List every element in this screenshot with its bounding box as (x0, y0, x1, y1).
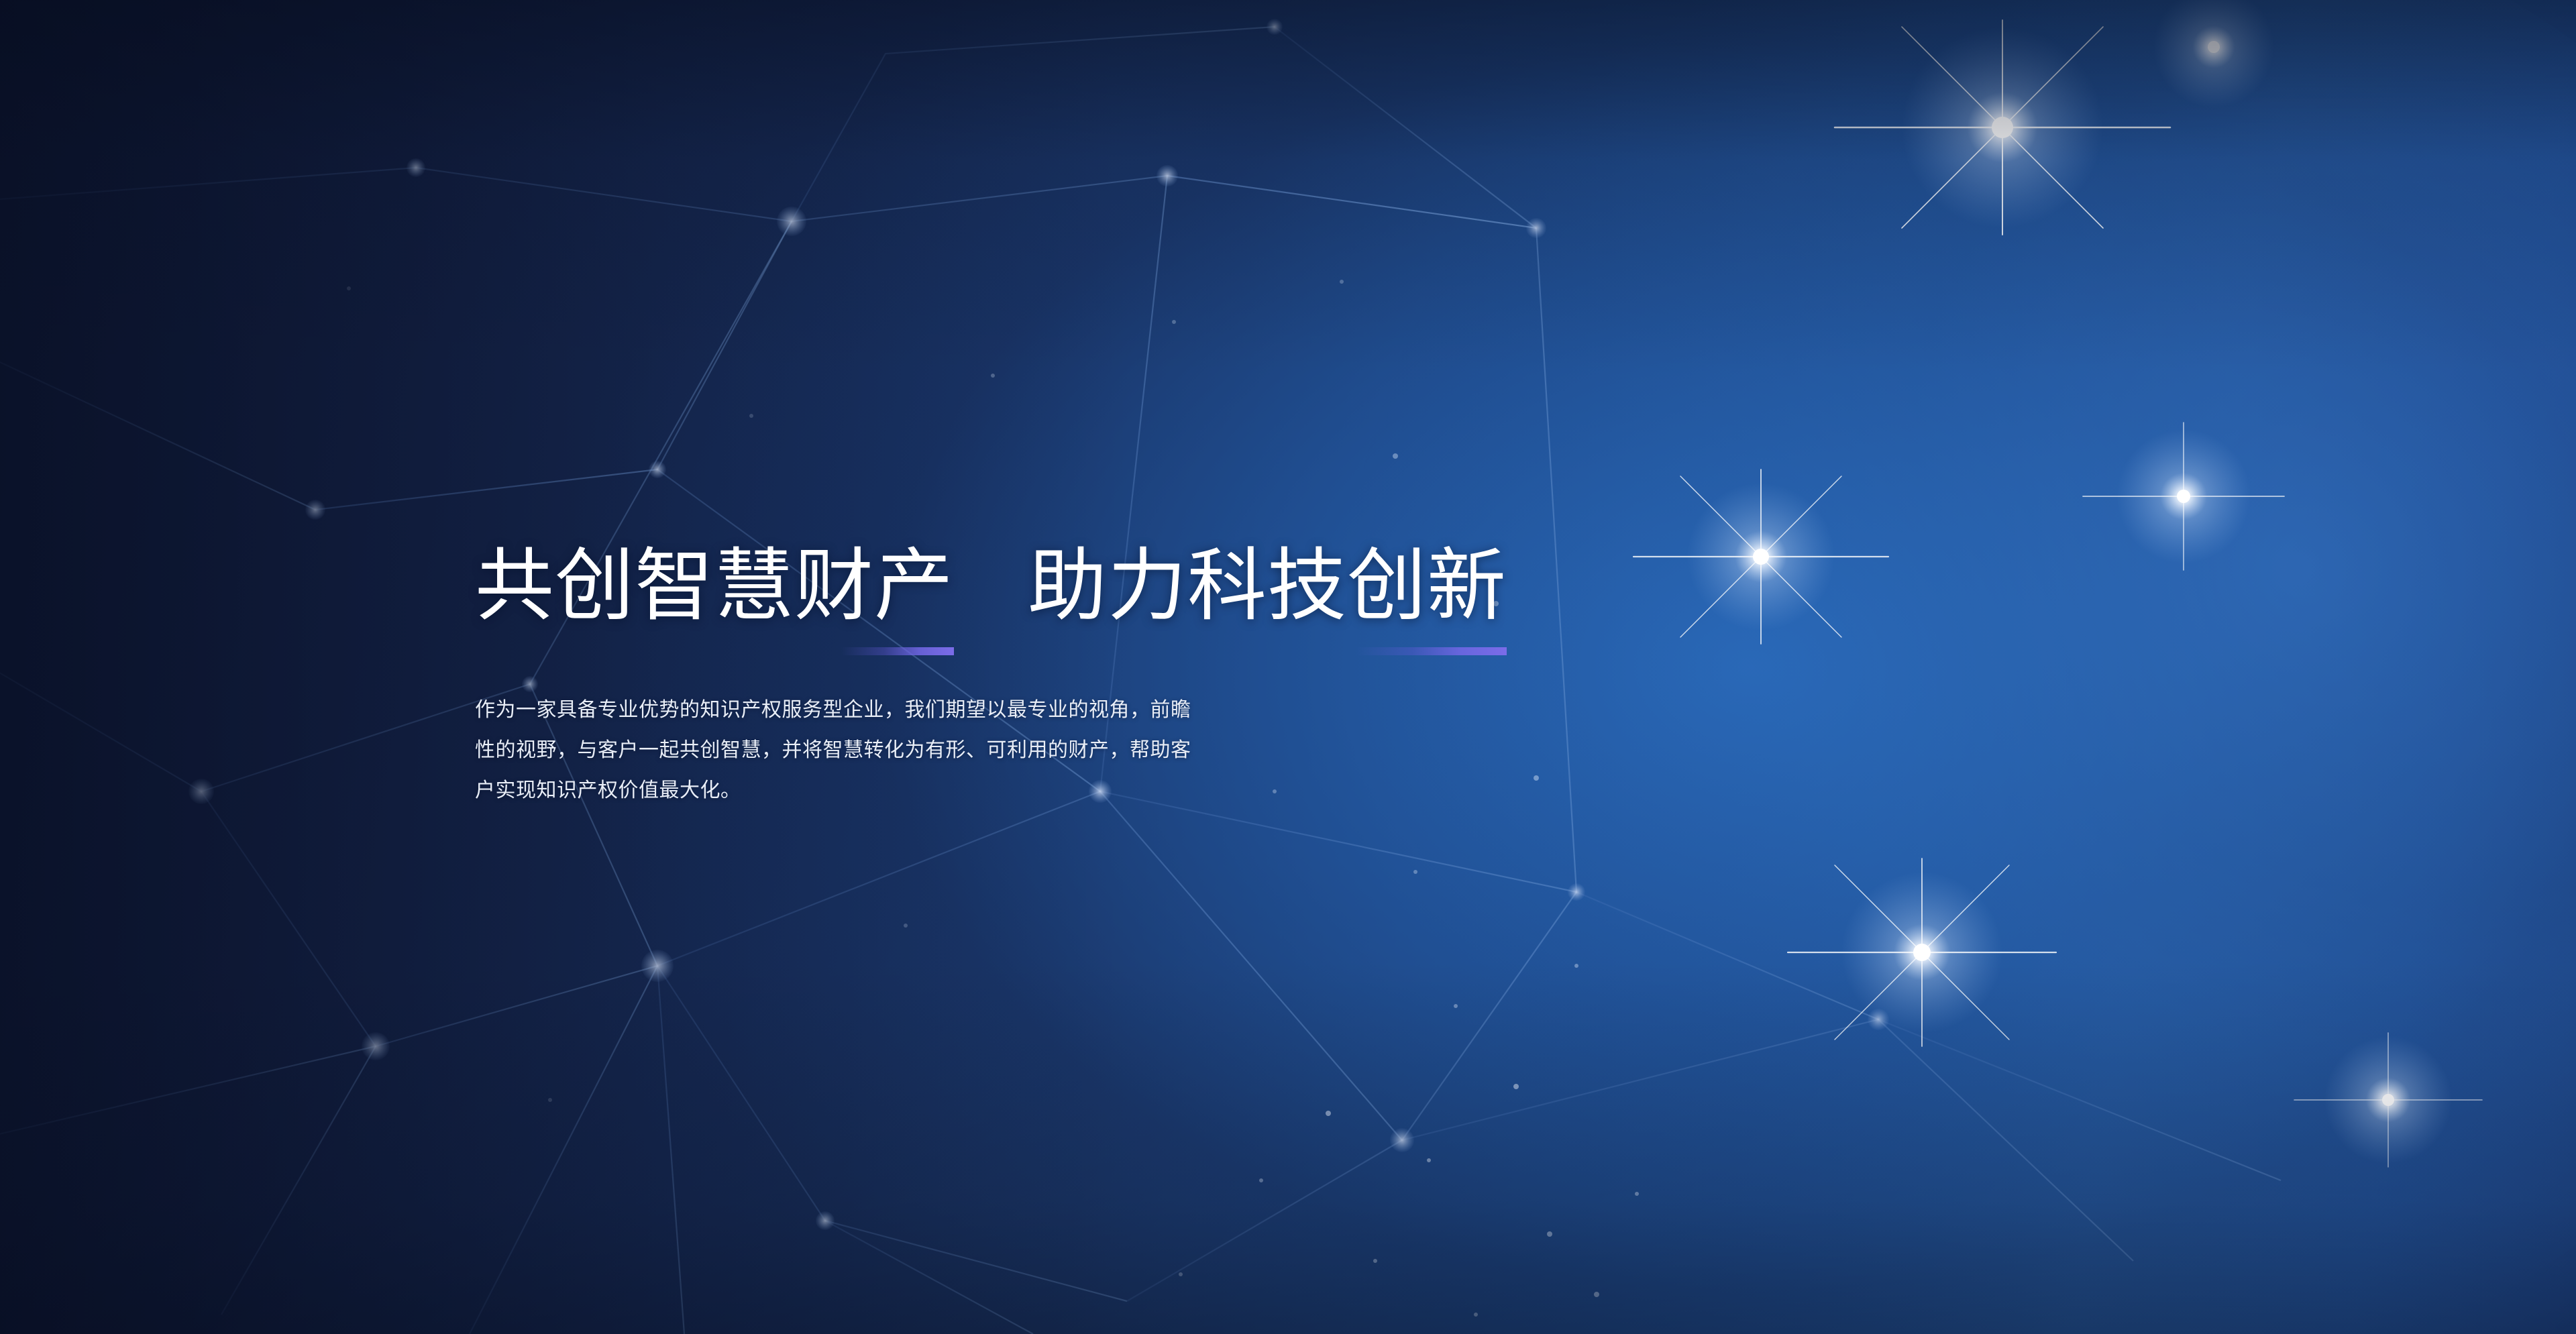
headline-segment-1-text: 共创智慧财产 (475, 542, 954, 630)
headline-segment-2: 助力科技创新 (1028, 547, 1507, 626)
headline-segment-1: 共创智慧财产 (475, 547, 954, 626)
description-line-2: 性的视野，与客户一起共创智慧，并将智慧转化为有形、可利用的财产，帮助客 (475, 730, 1233, 771)
headline-segment-2-text: 助力科技创新 (1028, 542, 1507, 630)
description-line-3: 户实现知识产权价值最大化。 (475, 771, 1233, 811)
hero-banner: 共创智慧财产 助力科技创新 作为一家具备专业优势的知识产权服务型企业，我们期望以… (0, 0, 2576, 1334)
hero-content: 共创智慧财产 助力科技创新 作为一家具备专业优势的知识产权服务型企业，我们期望以… (475, 547, 1481, 811)
headline-accent-bar-1 (841, 647, 954, 655)
hero-headline: 共创智慧财产 助力科技创新 (475, 547, 1481, 626)
description-line-1: 作为一家具备专业优势的知识产权服务型企业，我们期望以最专业的视角，前瞻 (475, 690, 1233, 730)
headline-accent-bar-2 (1356, 647, 1507, 655)
hero-description: 作为一家具备专业优势的知识产权服务型企业，我们期望以最专业的视角，前瞻 性的视野… (475, 690, 1233, 811)
